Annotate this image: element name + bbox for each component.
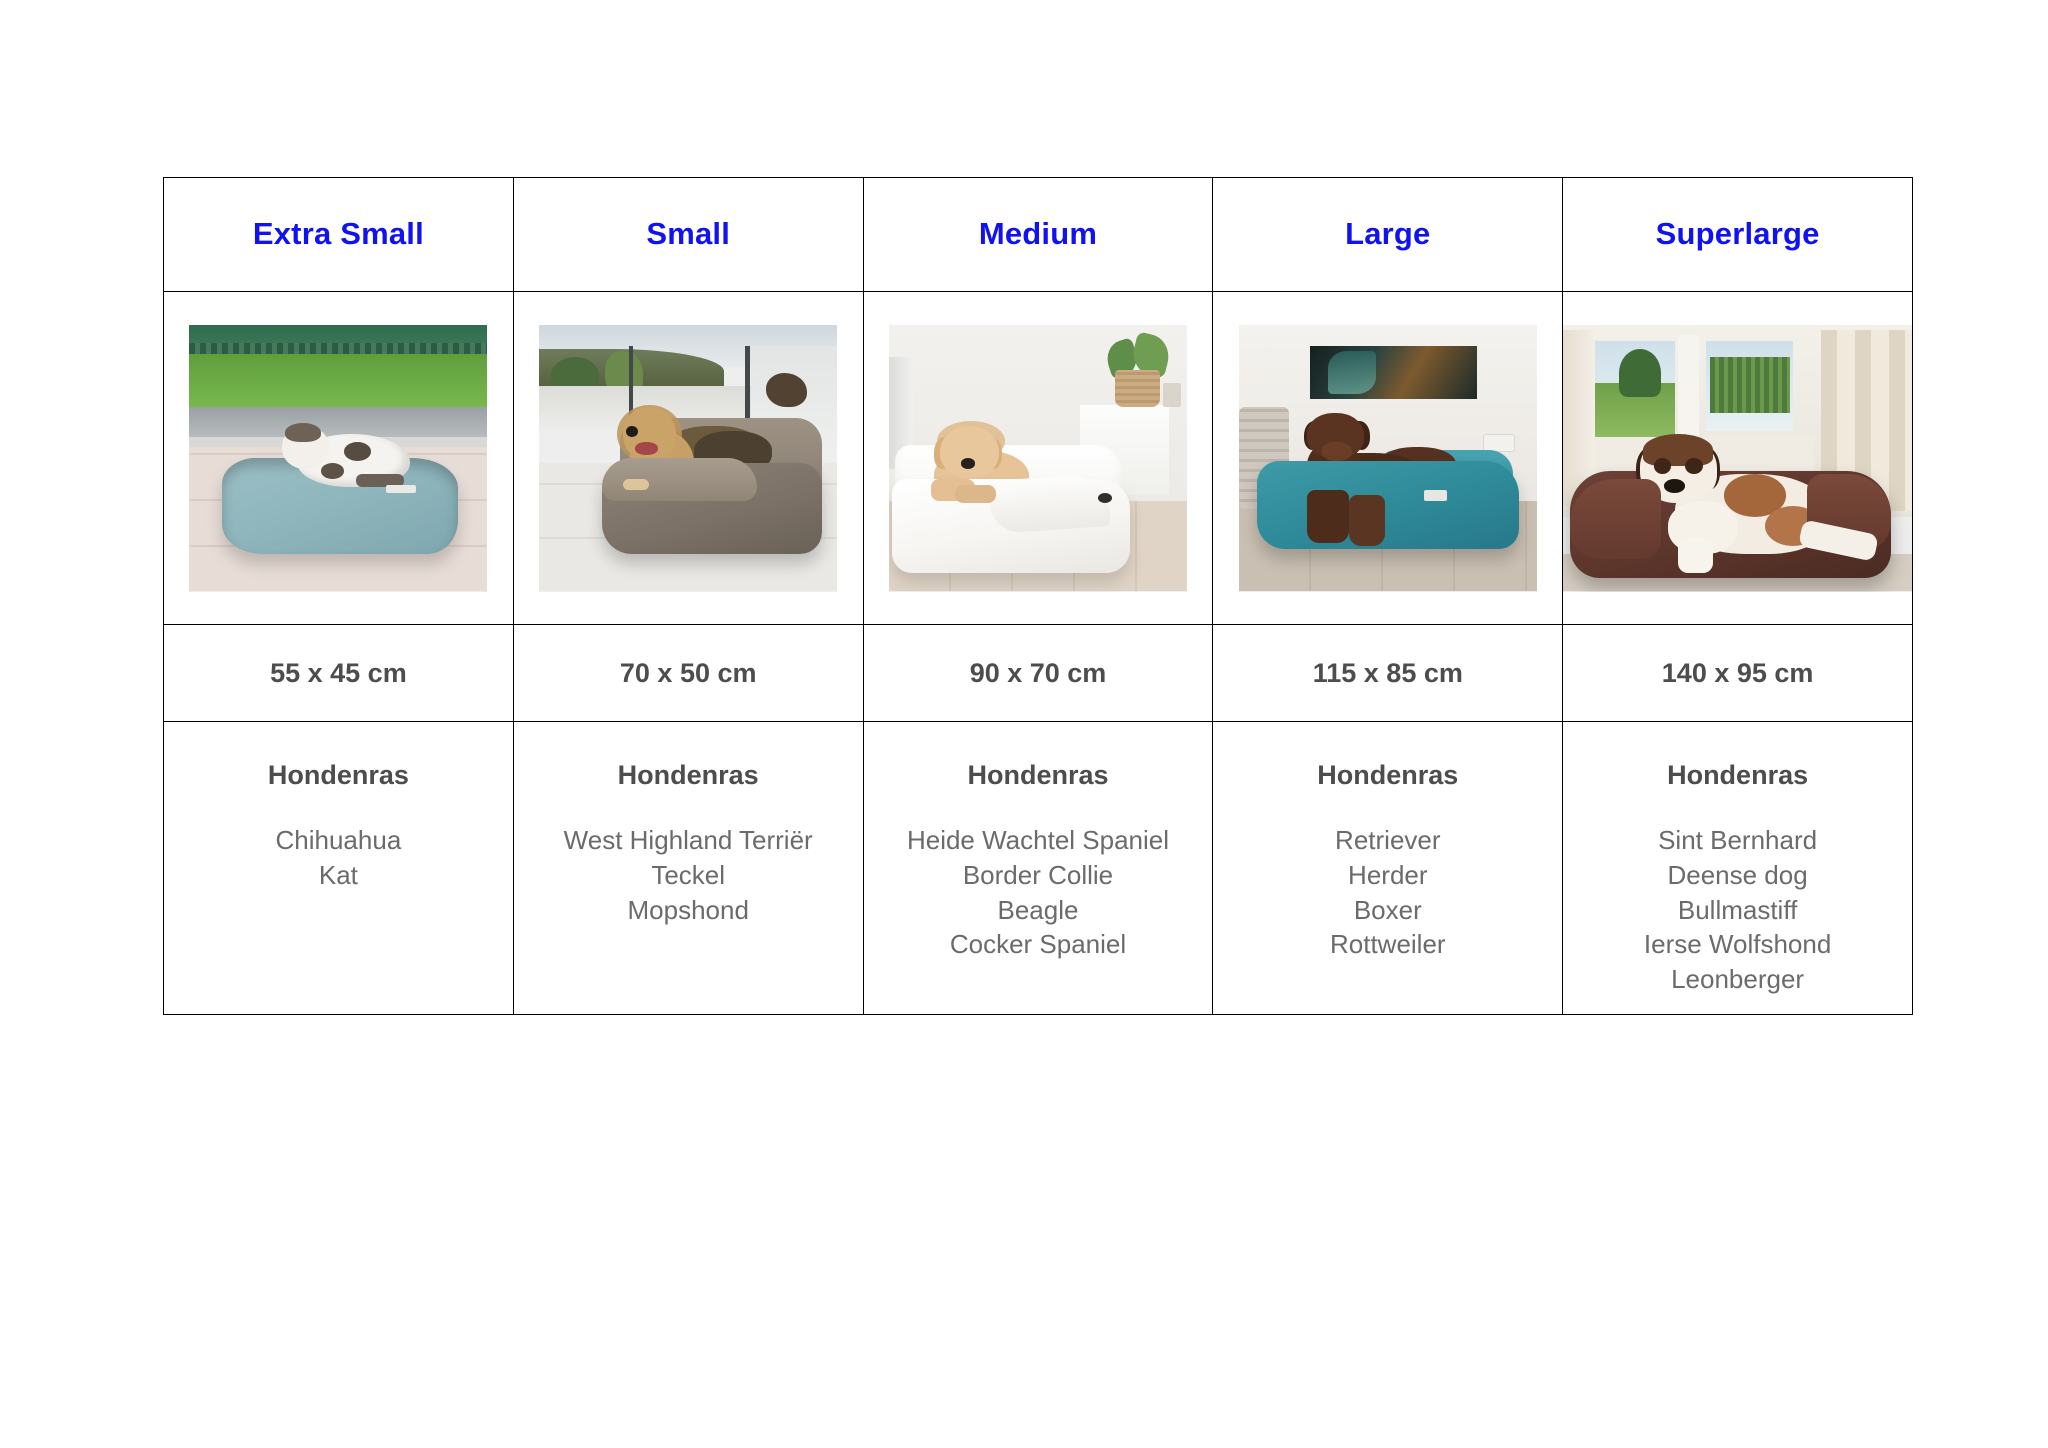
photo-dog-eye [1685,458,1702,474]
breed-item: Sint Bernhard [1563,823,1912,858]
photo-dog-nose [1664,479,1685,492]
photo-cell-superlarge [1563,292,1913,625]
breed-item: Deense dog [1563,858,1912,893]
photo-cat-spot [344,442,371,461]
breed-item: Bullmastiff [1563,893,1912,928]
dimension-cell-extra-small: 55 x 45 cm [164,625,514,722]
table-dimension-row: 55 x 45 cm 70 x 50 cm 90 x 70 cm 115 x 8… [164,625,1913,722]
product-photo-medium [889,325,1187,592]
breed-title-superlarge: Hondenras [1563,760,1912,791]
photo-dog-leg [1349,495,1385,546]
photo-dog-bed-fold [989,473,1112,535]
breed-item: Mopshond [514,893,863,928]
breed-item: Leonberger [1563,962,1912,997]
photo-dog-head [940,426,1000,479]
breed-item: Kat [164,858,513,893]
dimension-cell-medium: 90 x 70 cm [863,625,1213,722]
photo-cell-medium [863,292,1213,625]
photo-basket-planter [1115,370,1160,407]
dimension-cell-small: 70 x 50 cm [513,625,863,722]
table-photo-row [164,292,1913,625]
photo-candle [1163,383,1181,407]
dimension-cell-large: 115 x 85 cm [1213,625,1563,722]
photo-dog-bed [1257,461,1519,549]
product-photo-extra-small [189,325,487,592]
size-name-large: Large [1213,217,1562,251]
breed-title-large: Hondenras [1213,760,1562,791]
breed-item: West Highland Terriër [514,823,863,858]
header-cell-large: Large [1213,178,1563,292]
breed-item: Teckel [514,858,863,893]
photo-brand-label [386,485,416,493]
breed-item: Border Collie [864,858,1213,893]
product-photo-large [1239,325,1537,592]
photo-dog-bed-rim [1570,479,1661,559]
breed-list-medium: Heide Wachtel Spaniel Border Collie Beag… [864,823,1213,962]
breed-item: Retriever [1213,823,1562,858]
header-cell-medium: Medium [863,178,1213,292]
breed-list-large: Retriever Herder Boxer Rottweiler [1213,823,1562,962]
breed-list-extra-small: Chihuahua Kat [164,823,513,893]
breed-cell-large: Hondenras Retriever Herder Boxer Rottwei… [1213,722,1563,1015]
breed-title-small: Hondenras [514,760,863,791]
breed-item: Cocker Spaniel [864,927,1213,962]
header-cell-superlarge: Superlarge [1563,178,1913,292]
photo-dog-muzzle [1322,442,1352,461]
dimension-extra-small: 55 x 45 cm [164,658,513,689]
photo-cell-extra-small [164,292,514,625]
size-name-medium: Medium [864,217,1213,251]
breed-cell-superlarge: Hondenras Sint Bernhard Deense dog Bullm… [1563,722,1913,1015]
breed-item: Ierse Wolfshond [1563,927,1912,962]
breed-cell-small: Hondenras West Highland Terriër Teckel M… [513,722,863,1015]
photo-lawn [189,354,487,407]
size-name-small: Small [514,217,863,251]
breed-item: Rottweiler [1213,927,1562,962]
header-cell-small: Small [513,178,863,292]
header-cell-extra-small: Extra Small [164,178,514,292]
table-breed-row: Hondenras Chihuahua Kat Hondenras West H… [164,722,1913,1015]
photo-wall-art-detail [1328,351,1376,394]
dimension-cell-superlarge: 140 x 95 cm [1563,625,1913,722]
breed-item: Boxer [1213,893,1562,928]
photo-cell-large [1213,292,1563,625]
dimension-small: 70 x 50 cm [514,658,863,689]
breed-item: Beagle [864,893,1213,928]
product-photo-superlarge [1563,325,1912,592]
photo-dog-paw [1678,538,1713,573]
dimension-medium: 90 x 70 cm [864,658,1213,689]
size-name-superlarge: Superlarge [1563,217,1912,251]
document-page: Extra Small Small Medium Large Superlarg… [0,0,2048,1448]
photo-cell-small [513,292,863,625]
breed-item: Chihuahua [164,823,513,858]
dimension-superlarge: 140 x 95 cm [1563,658,1912,689]
photo-hedge [1710,357,1790,413]
photo-dog-nose [961,458,976,469]
size-name-extra-small: Extra Small [164,217,513,251]
dimension-large: 115 x 85 cm [1213,658,1562,689]
breed-list-small: West Highland Terriër Teckel Mopshond [514,823,863,927]
table-header-row: Extra Small Small Medium Large Superlarg… [164,178,1913,292]
breed-list-superlarge: Sint Bernhard Deense dog Bullmastiff Ier… [1563,823,1912,997]
photo-brand-label [1424,490,1448,501]
photo-dog-leg [955,485,997,504]
breed-title-medium: Hondenras [864,760,1213,791]
breed-title-extra-small: Hondenras [164,760,513,791]
photo-dog-leg [1307,490,1349,543]
photo-cat-head-marking [285,423,321,442]
photo-dog-head-marking [1643,434,1713,466]
photo-dog-nose [626,426,638,437]
product-photo-small [539,325,837,592]
breed-item: Herder [1213,858,1562,893]
breed-item: Heide Wachtel Spaniel [864,823,1213,858]
dog-bed-size-table: Extra Small Small Medium Large Superlarg… [163,177,1913,1015]
photo-dog-paw [623,479,650,490]
photo-tree [1619,349,1661,397]
breed-cell-medium: Hondenras Heide Wachtel Spaniel Border C… [863,722,1213,1015]
breed-cell-extra-small: Hondenras Chihuahua Kat [164,722,514,1015]
